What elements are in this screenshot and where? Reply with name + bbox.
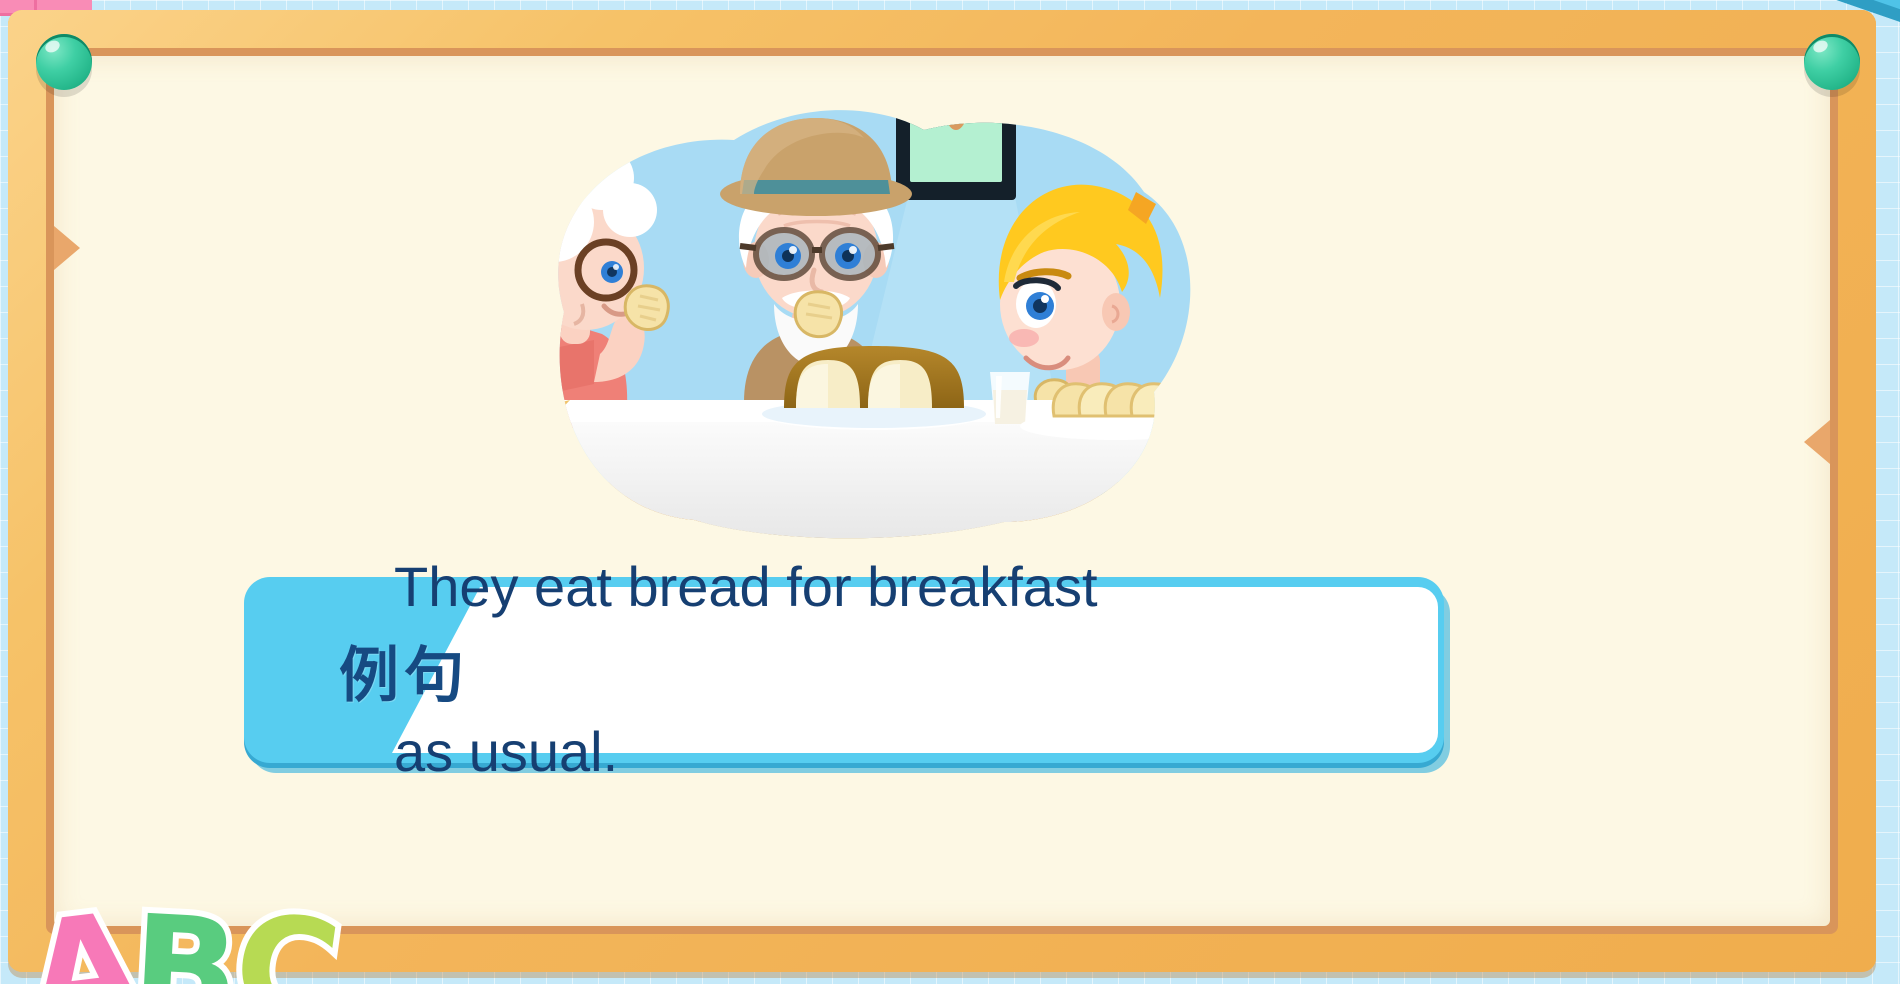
bread-slice-grandmother [625, 286, 668, 330]
pushpin-top-left-icon [36, 34, 92, 90]
wooden-frame: 例句 They eat bread for breakfast as usual… [8, 10, 1876, 972]
bread-slice-grandfather [795, 292, 841, 337]
loaf-of-bread [784, 346, 964, 408]
letter-a: A [23, 903, 145, 984]
letter-c: C [227, 903, 346, 984]
frame-notch-left [54, 226, 80, 270]
wall-picture [896, 82, 1016, 200]
lesson-illustration [444, 82, 1244, 542]
abc-letters: A B C [30, 910, 338, 984]
illustration-svg [444, 82, 1244, 542]
frame-notch-right [1804, 420, 1830, 464]
bread-slices-plate [1053, 384, 1178, 416]
callout-white-panel [392, 587, 1438, 753]
frame-mat: 例句 They eat bread for breakfast as usual… [54, 56, 1830, 926]
glass-of-milk [990, 372, 1030, 424]
example-sentence-callout: 例句 They eat bread for breakfast as usual… [244, 577, 1444, 763]
illustration-scene [444, 82, 1244, 542]
pushpin-top-right-icon [1804, 34, 1860, 90]
letter-b: B [129, 907, 242, 984]
callout-label: 例句 [274, 577, 534, 763]
